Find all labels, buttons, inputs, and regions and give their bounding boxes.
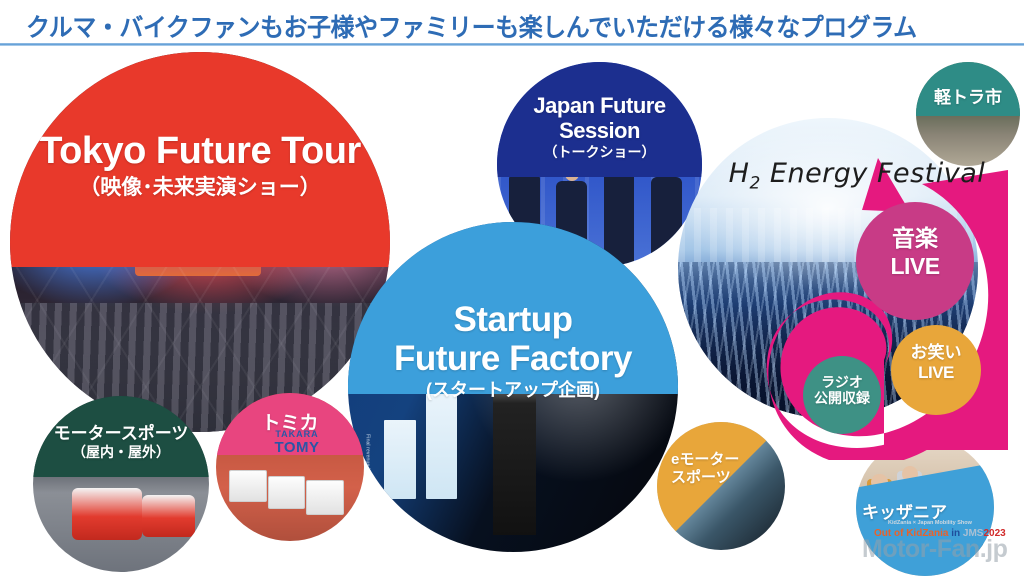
radio-recording-title-line2: 公開収録	[803, 391, 881, 407]
motor-sports-caption: モータースポーツ （屋内・屋外）	[33, 424, 209, 461]
chart-bar-2	[426, 390, 457, 499]
takara-tomy-logo-line2: TOMY	[261, 439, 333, 456]
ongaku-live-caption: 音楽 LIVE	[856, 226, 974, 280]
bubble-ongaku-live[interactable]: 音楽 LIVE	[856, 202, 974, 320]
chart-y-axis-label: Final revenue in 2D	[365, 434, 371, 480]
kidzania-sub-small: KidZania × Japan Mobility Show	[888, 520, 972, 526]
tomica-box	[229, 470, 267, 502]
startup-future-factory-title-jp: (スタートアップ企画)	[348, 380, 678, 400]
bubble-tomica[interactable]: トミカ	[216, 393, 364, 541]
owarai-live-title-jp: お笑い	[891, 343, 981, 362]
keitora-ichi-title: 軽トラ市	[916, 88, 1020, 107]
ongaku-live-title-jp: 音楽	[856, 226, 974, 252]
tomica-box	[268, 476, 306, 509]
tomica-box	[306, 480, 344, 515]
keitora-ichi-caption: 軽トラ市	[916, 88, 1020, 107]
bubble-startup-future-factory[interactable]: 60% 84% Final revenue in 2D Startup Futu…	[348, 222, 678, 552]
motor-sports-title: モータースポーツ	[33, 424, 209, 443]
ongaku-live-title-en: LIVE	[856, 254, 974, 280]
bubble-tokyo-future-tour[interactable]: Tokyo Future Tour （映像･未来実演ショー）	[10, 52, 390, 432]
slide-header: クルマ・バイクファンもお子様やファミリーも楽しんでいただける様々なプログラム	[0, 0, 1024, 46]
race-car	[72, 488, 142, 541]
header-divider	[0, 43, 1024, 46]
startup-future-factory-title-line2: Future Factory	[348, 339, 678, 378]
e-motorsports-title-line2: スポーツ	[671, 470, 785, 487]
slide-canvas: クルマ・バイクファンもお子様やファミリーも楽しんでいただける様々なプログラム T…	[0, 0, 1024, 576]
startup-future-factory-caption: Startup Future Factory (スタートアップ企画)	[348, 300, 678, 401]
race-car-secondary	[142, 495, 195, 537]
japan-future-session-title-line1: Japan Future	[497, 94, 702, 119]
tokyo-future-tour-title-jp: （映像･未来実演ショー）	[10, 176, 390, 200]
owarai-live-caption: お笑い LIVE	[891, 343, 981, 382]
radio-recording-title-line1: ラジオ	[803, 375, 881, 391]
motor-sports-subtitle: （屋内・屋外）	[33, 445, 209, 461]
startup-future-factory-title-line1: Startup	[348, 300, 678, 339]
bubble-keitora-ichi[interactable]: 軽トラ市	[916, 62, 1020, 166]
bubble-motor-sports[interactable]: モータースポーツ （屋内・屋外）	[33, 396, 209, 572]
chart-bar-1	[384, 420, 415, 499]
page-title: クルマ・バイクファンもお子様やファミリーも楽しんでいただける様々なプログラム	[26, 8, 917, 44]
takara-tomy-logo-line1: TAKARA	[261, 429, 333, 439]
takara-tomy-logo: TAKARA TOMY	[261, 429, 333, 456]
japan-future-session-title-line2: Session	[497, 119, 702, 144]
radio-recording-caption: ラジオ 公開収録	[803, 375, 881, 406]
bubble-owarai-live[interactable]: お笑い LIVE	[891, 325, 981, 415]
tokyo-future-tour-caption: Tokyo Future Tour （映像･未来実演ショー）	[10, 130, 390, 199]
owarai-live-title-en: LIVE	[891, 363, 981, 382]
tokyo-future-tour-title-en: Tokyo Future Tour	[10, 130, 390, 173]
watermark: Motor-Fan.jp	[862, 535, 1007, 564]
japan-future-session-caption: Japan Future Session （トークショー）	[497, 94, 702, 161]
japan-future-session-title-jp: （トークショー）	[497, 145, 702, 161]
bubble-radio-recording[interactable]: ラジオ 公開収録	[803, 356, 881, 434]
h2-energy-festival-title: H2 Energy Festival	[722, 158, 992, 193]
